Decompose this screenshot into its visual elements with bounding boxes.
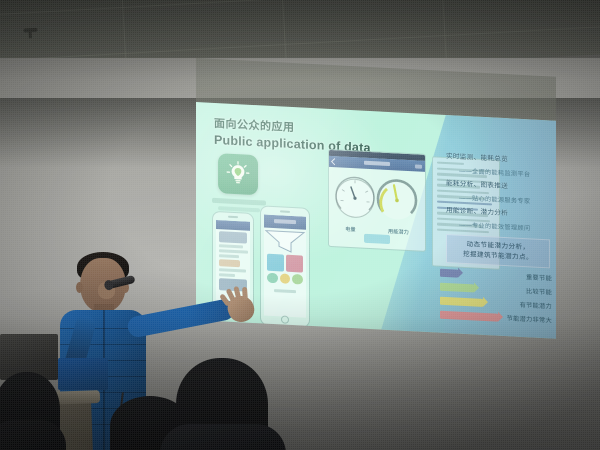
presentation-photo: 面向公众的应用 Public application of data	[0, 0, 600, 450]
photo-vignette	[0, 0, 600, 450]
